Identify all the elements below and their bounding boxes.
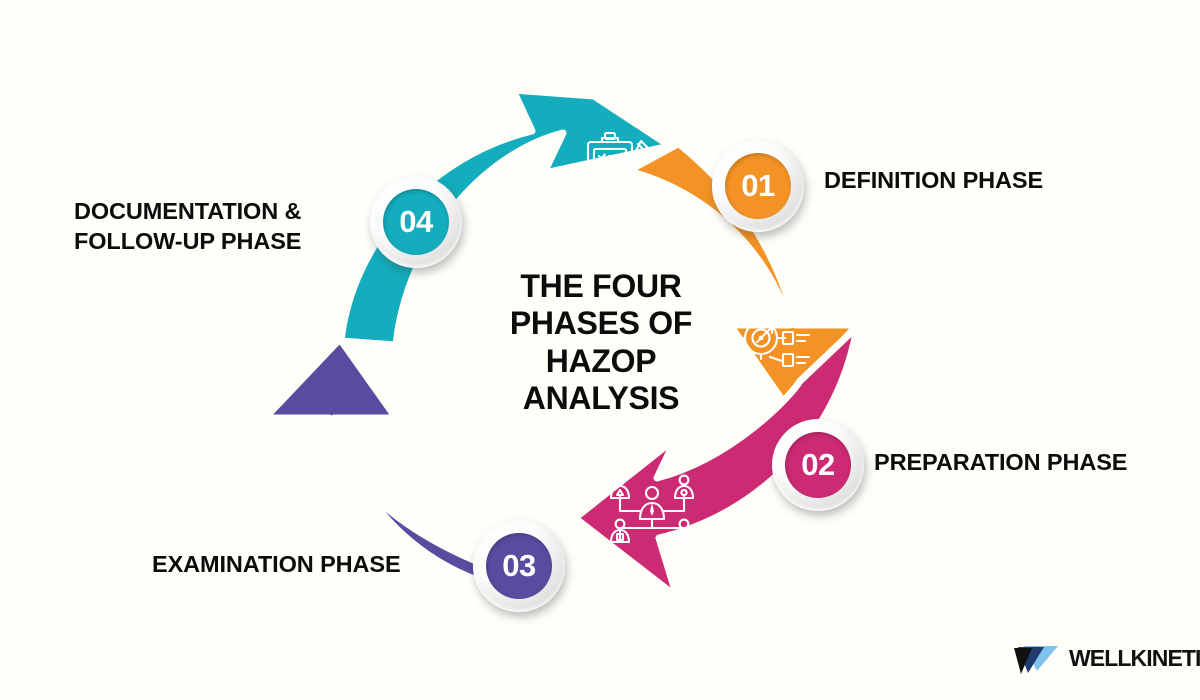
badge-inner: 01 xyxy=(725,153,791,219)
phase-badge-03[interactable]: 03 xyxy=(473,520,565,612)
phase-badge-04[interactable]: 04 xyxy=(370,176,462,268)
phase-label-preparation: PREPARATION PHASE xyxy=(874,447,1127,477)
logo-text: WELLKINETICS xyxy=(1069,645,1200,672)
phase-label-examination: EXAMINATION PHASE xyxy=(152,549,401,579)
badge-number: 01 xyxy=(741,170,774,202)
wellkinetics-mark-icon xyxy=(1014,641,1060,675)
badge-number: 04 xyxy=(399,206,432,238)
phase-label-definition: DEFINITION PHASE xyxy=(824,165,1043,195)
phase-label-documentation: DOCUMENTATION & FOLLOW-UP PHASE xyxy=(74,196,354,256)
badge-number: 02 xyxy=(801,449,834,481)
infographic-canvas: THE FOUR PHASES OF HAZOP ANALYSIS 01 02 … xyxy=(0,0,1200,700)
badge-inner: 03 xyxy=(486,533,552,599)
phase-badge-01[interactable]: 01 xyxy=(712,140,804,232)
brand-logo: WELLKINETICS xyxy=(1014,641,1200,675)
badge-inner: 04 xyxy=(383,189,449,255)
phase-badge-02[interactable]: 02 xyxy=(772,419,864,511)
badge-inner: 02 xyxy=(785,432,851,498)
badge-number: 03 xyxy=(502,550,535,582)
center-title: THE FOUR PHASES OF HAZOP ANALYSIS xyxy=(488,268,714,418)
